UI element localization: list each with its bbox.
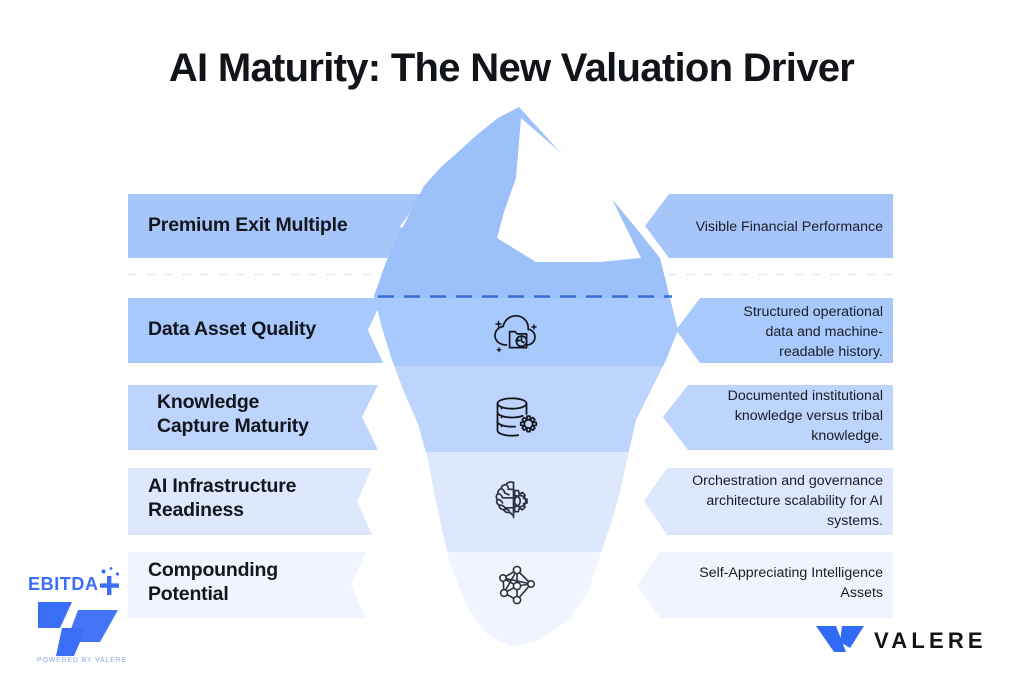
- ebitda-plus-icon: [100, 567, 119, 595]
- row-description-1: Visible Financial Performance: [633, 217, 883, 237]
- network-nodes-icon: [494, 562, 540, 608]
- valere-logo: VALERE: [812, 618, 1002, 662]
- ebitda-tagline: POWERED BY VALERE: [37, 657, 127, 664]
- row-description-3: Documented institutional knowledge versu…: [633, 386, 883, 446]
- row-description-5: Self-Appreciating Intelligence Assets: [633, 563, 883, 603]
- ebitda-v-mark: [38, 602, 118, 656]
- row-label-3: Knowledge Capture Maturity: [157, 391, 309, 439]
- row-label-1: Premium Exit Multiple: [148, 214, 348, 238]
- ebitda-wordmark: EBITDA: [28, 574, 99, 594]
- row-description-2: Structured operational data and machine-…: [633, 302, 883, 362]
- valere-v-icon: [816, 626, 864, 652]
- database-gear-icon: [489, 392, 541, 444]
- valere-wordmark: VALERE: [874, 628, 987, 653]
- brain-gear-icon: [492, 476, 540, 524]
- cloud-folder-restore-icon: [486, 306, 544, 356]
- row-label-2: Data Asset Quality: [148, 318, 316, 342]
- row-label-5: Compounding Potential: [148, 559, 278, 607]
- ebitda-plus-logo: EBITDA POWERED BY VALERE: [22, 558, 138, 666]
- row-description-4: Orchestration and governance architectur…: [633, 471, 883, 531]
- row-label-4: AI Infrastructure Readiness: [148, 475, 296, 523]
